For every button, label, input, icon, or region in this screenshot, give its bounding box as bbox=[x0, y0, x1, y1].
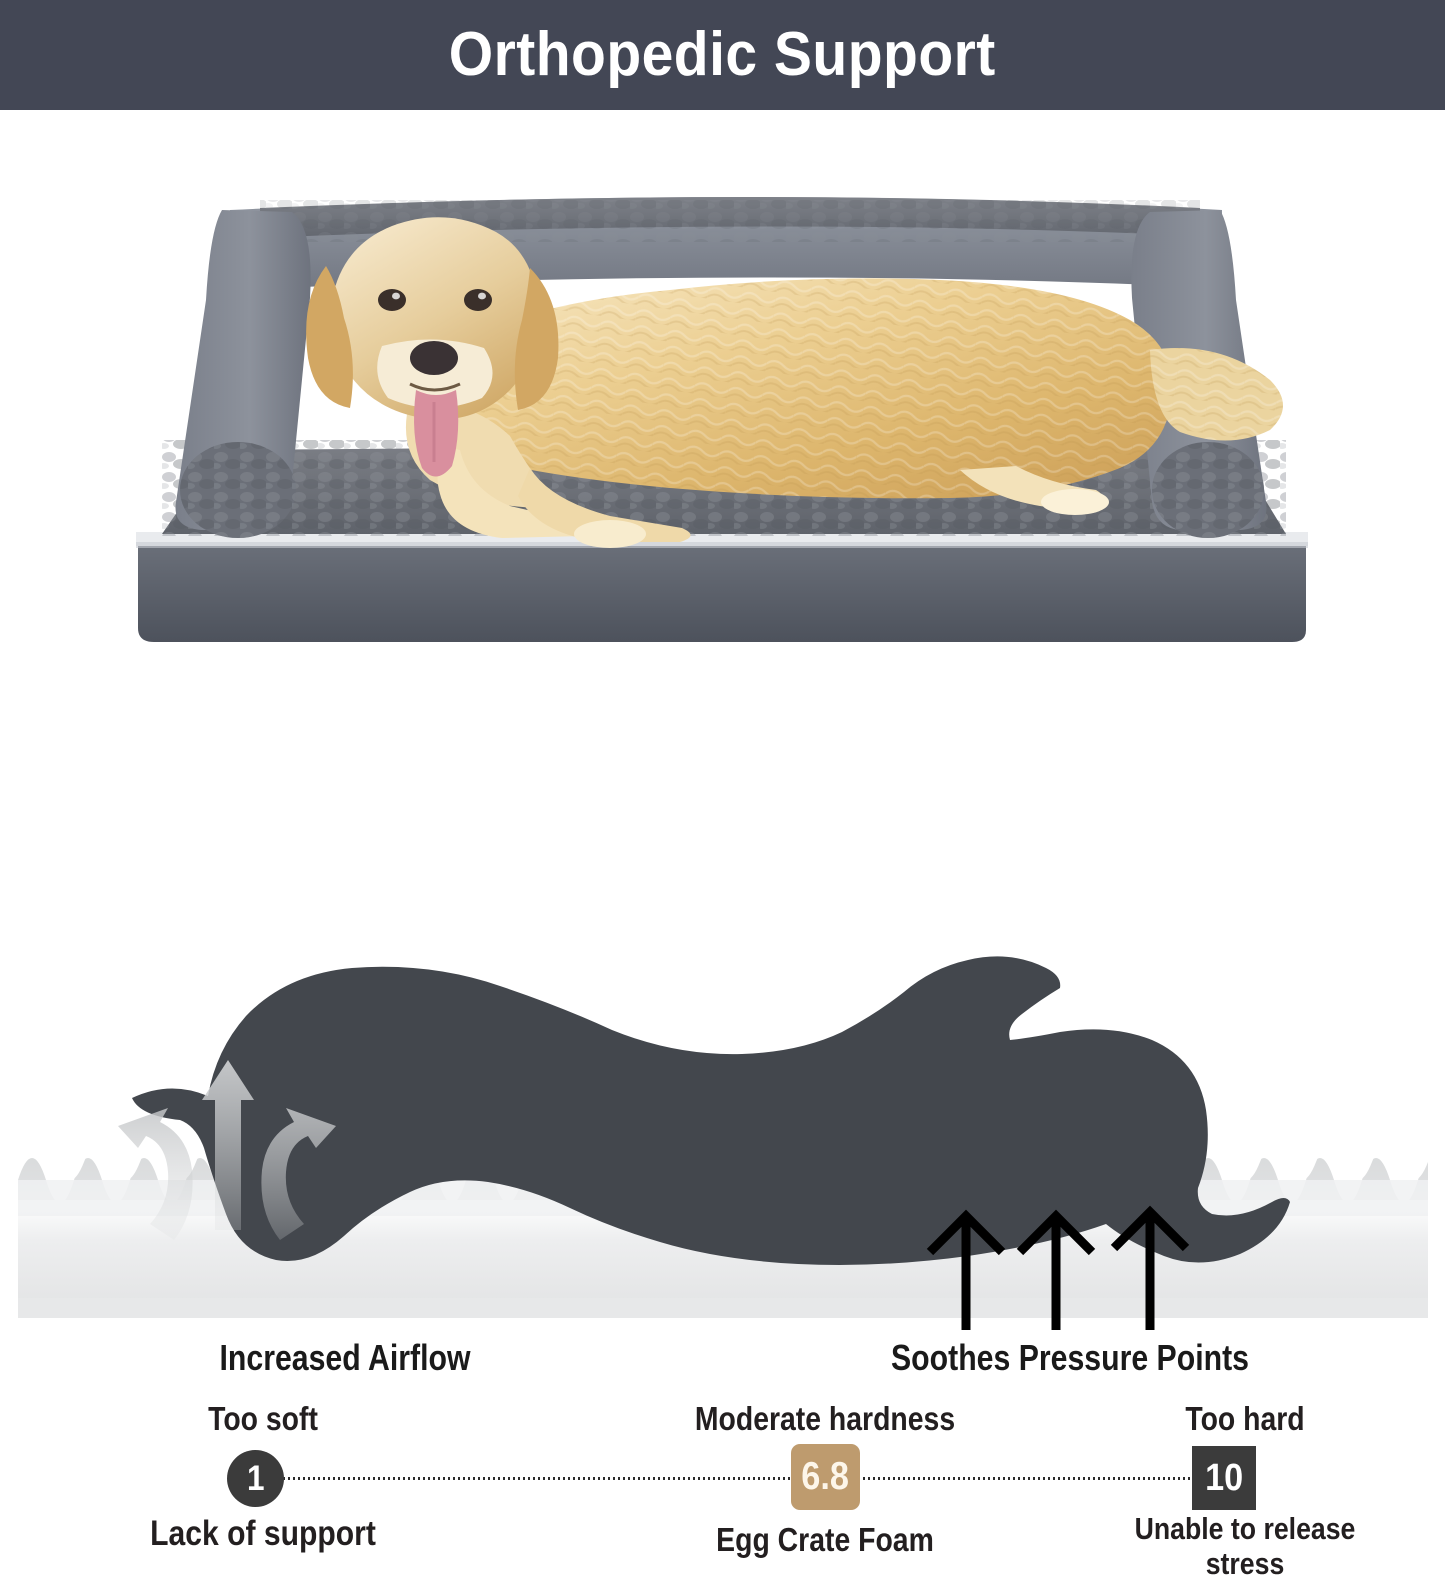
scale-marker-68-value: 6.8 bbox=[802, 1455, 850, 1499]
scale-marker-1: 1 bbox=[227, 1450, 284, 1507]
foam-diagram-illustration bbox=[0, 930, 1445, 1330]
page-title: Orthopedic Support bbox=[449, 24, 996, 86]
pressure-arrows bbox=[930, 1212, 1186, 1330]
airflow-label: Increased Airflow bbox=[177, 1337, 513, 1379]
scale-left-bottom-label: Lack of support bbox=[113, 1516, 414, 1553]
scale-right-top-label: Too hard bbox=[1138, 1402, 1353, 1437]
header-banner: Orthopedic Support bbox=[0, 0, 1445, 110]
scale-marker-10: 10 bbox=[1192, 1446, 1256, 1510]
infographic-root: Orthopedic Support bbox=[0, 0, 1445, 1391]
pressure-points-label: Soothes Pressure Points bbox=[843, 1337, 1297, 1379]
scale-middle-top-label: Moderate hardness bbox=[683, 1402, 967, 1437]
scale-marker-1-value: 1 bbox=[247, 1459, 265, 1499]
scale-marker-68: 6.8 bbox=[791, 1444, 860, 1510]
scale-dotted-line bbox=[283, 1477, 1195, 1480]
scale-left-top-label: Too soft bbox=[134, 1402, 392, 1437]
product-photo bbox=[110, 150, 1335, 680]
scale-marker-10-value: 10 bbox=[1205, 1457, 1243, 1500]
product-photo-illustration bbox=[110, 150, 1335, 680]
scale-right-bottom-label: Unable to release stress bbox=[1125, 1512, 1366, 1581]
scale-middle-bottom-label: Egg Crate Foam bbox=[693, 1523, 956, 1558]
hardness-scale: Too soft 1 Lack of support Moderate hard… bbox=[0, 690, 1445, 920]
dog-silhouette-lying-down bbox=[132, 956, 1290, 1265]
foam-cross-section-diagram bbox=[0, 930, 1445, 1330]
